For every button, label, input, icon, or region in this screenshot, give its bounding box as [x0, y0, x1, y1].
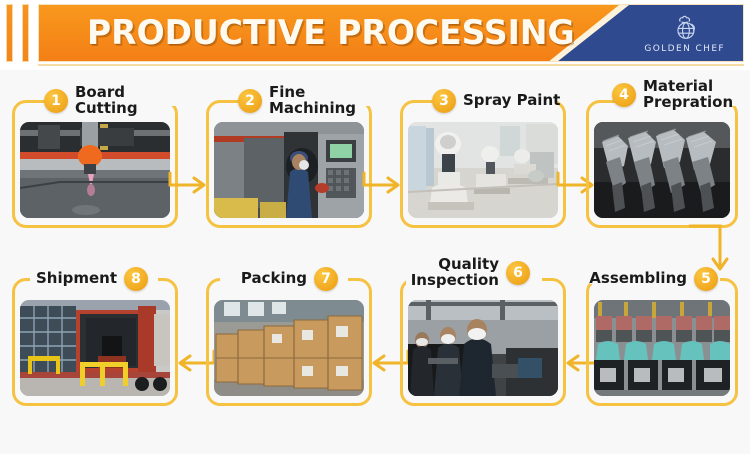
process-step-4[interactable]: 4 Material Prepration	[586, 86, 738, 228]
step-label: Assembling	[589, 271, 687, 287]
step-header: 5 Assembling	[589, 264, 718, 294]
process-flow: 1 Board Cutting	[0, 68, 750, 454]
step-photo-material-prepration	[594, 122, 730, 218]
process-step-8[interactable]: 8 Shipment	[12, 264, 178, 406]
process-step-1[interactable]: 1 Board Cutting	[12, 86, 178, 228]
process-step-2[interactable]: 2 Fine Machining	[206, 86, 372, 228]
chef-hat-globe-icon	[666, 13, 704, 43]
process-step-5[interactable]: 5 Assembling	[586, 264, 738, 406]
step-label: Spray Paint	[463, 93, 560, 109]
step-badge: 1	[44, 89, 68, 113]
step-header: 2 Fine Machining	[238, 86, 372, 116]
page-title: PRODUCTIVE PROCESSING	[87, 13, 575, 53]
step-photo-assembling	[594, 300, 730, 396]
step-label: Fine Machining	[269, 85, 372, 117]
header-accent-stripe-2	[22, 4, 29, 62]
step-photo-quality-inspection	[408, 300, 558, 396]
step-photo-board-cutting	[20, 122, 170, 218]
header-accent-stripe-1	[6, 4, 13, 62]
step-label: Quality Inspection	[411, 257, 499, 289]
step-photo-fine-machining	[214, 122, 364, 218]
step-header: 3 Spray Paint	[432, 86, 560, 116]
header-underline	[38, 64, 744, 66]
process-step-6[interactable]: 6 Quality Inspection	[400, 264, 566, 406]
step-badge: 7	[314, 267, 338, 291]
step-badge: 6	[506, 261, 530, 285]
step-label: Board Cutting	[75, 85, 178, 117]
step-header: 7 Packing	[241, 264, 338, 294]
step-photo-shipment	[20, 300, 170, 396]
process-step-3[interactable]: 3 Spray Paint	[400, 86, 566, 228]
step-badge: 2	[238, 89, 262, 113]
process-step-7[interactable]: 7 Packing	[206, 264, 372, 406]
step-label: Material Prepration	[643, 79, 733, 111]
step-header: 6 Quality Inspection	[411, 258, 530, 288]
step-badge: 3	[432, 89, 456, 113]
page-header: PRODUCTIVE PROCESSING GOLDEN CHEF	[0, 0, 750, 70]
brand-logo: GOLDEN CHEF	[644, 5, 725, 61]
step-badge: 5	[694, 267, 718, 291]
step-label: Packing	[241, 271, 307, 287]
step-label: Shipment	[36, 271, 117, 287]
step-header: 4 Material Prepration	[612, 80, 733, 110]
step-photo-packing	[214, 300, 364, 396]
step-header: 1 Board Cutting	[44, 86, 178, 116]
step-badge: 8	[124, 267, 148, 291]
brand-name: GOLDEN CHEF	[644, 44, 725, 54]
step-badge: 4	[612, 83, 636, 107]
step-photo-spray-paint	[408, 122, 558, 218]
header-banner: PRODUCTIVE PROCESSING GOLDEN CHEF	[38, 4, 744, 62]
step-header: 8 Shipment	[36, 264, 148, 294]
